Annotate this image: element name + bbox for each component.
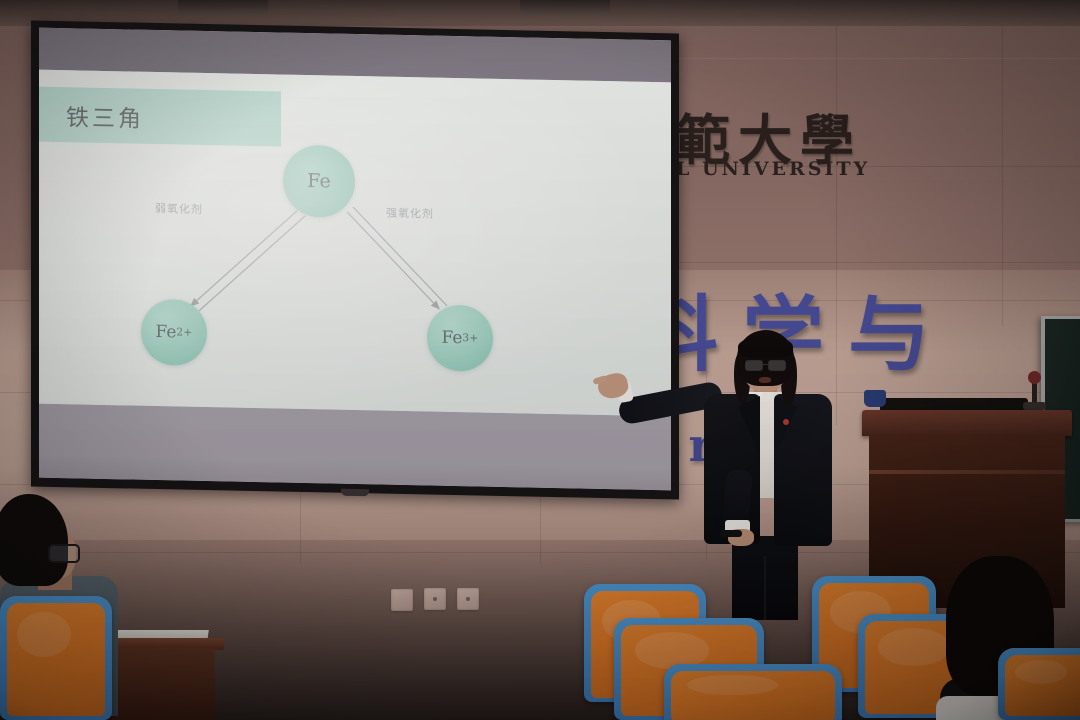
ceiling-light <box>178 0 268 14</box>
node-charge-fe2: 2+ <box>176 326 192 338</box>
tile-seam <box>1002 26 1003 326</box>
auditorium-seat[interactable] <box>664 664 842 720</box>
edge-label-weak-oxidizer: 弱氧化剂 <box>155 200 203 217</box>
projection-screen-frame: 铁三角 Fe <box>31 20 679 499</box>
presenter-badge-pin <box>783 419 789 425</box>
lecture-hall-scene: 範大學 L UNIVERSITY 科学与 orien 铁三角 <box>0 0 1080 720</box>
auditorium-seat[interactable] <box>0 596 112 720</box>
node-label-fe: Fe <box>307 170 330 192</box>
node-charge-fe3: 3+ <box>462 332 478 344</box>
wall-outlet-power[interactable] <box>424 588 446 610</box>
tile-seam <box>300 484 301 564</box>
microphone-base <box>1023 402 1046 410</box>
wall-outlet-blank <box>391 589 413 611</box>
screen-pull-knob[interactable] <box>341 489 369 497</box>
diagram-connectors <box>39 70 671 417</box>
presentation-clicker[interactable] <box>720 530 742 537</box>
wall-outlet-data[interactable] <box>457 588 479 610</box>
projection-screen-surface[interactable]: 铁三角 Fe <box>39 28 671 491</box>
diagram-node-fe2[interactable]: Fe2+ <box>141 299 207 366</box>
diagram-node-fe3[interactable]: Fe3+ <box>427 304 493 371</box>
auditorium-seat[interactable] <box>998 648 1080 720</box>
node-label-fe3: Fe <box>441 328 462 348</box>
outlet-dot <box>433 597 437 601</box>
outlet-dot <box>466 597 470 601</box>
glasses-icon <box>48 544 80 563</box>
glasses-icon <box>745 360 786 369</box>
presenter-leg-seam <box>764 556 766 620</box>
presenter-mouth <box>759 377 771 383</box>
node-label-fe2: Fe <box>155 322 176 342</box>
screen-bottom-dead-band <box>39 404 671 491</box>
audience-left-hair <box>0 494 68 586</box>
seat-cushion <box>671 671 835 720</box>
presenter-hair-fringe <box>738 336 793 358</box>
ceiling-light <box>520 0 610 14</box>
lectern-top <box>862 410 1072 436</box>
cup <box>864 390 886 407</box>
university-name-english: L UNIVERSITY <box>676 158 870 180</box>
diagram-node-fe[interactable]: Fe <box>283 145 355 218</box>
microphone-icon <box>1028 371 1041 384</box>
lectern-trim <box>869 470 1065 474</box>
edge-label-strong-oxidizer: 强氧化剂 <box>386 205 434 222</box>
seat-cushion <box>1005 655 1080 716</box>
seat-cushion <box>7 603 105 716</box>
presentation-slide: 铁三角 Fe <box>39 70 671 417</box>
